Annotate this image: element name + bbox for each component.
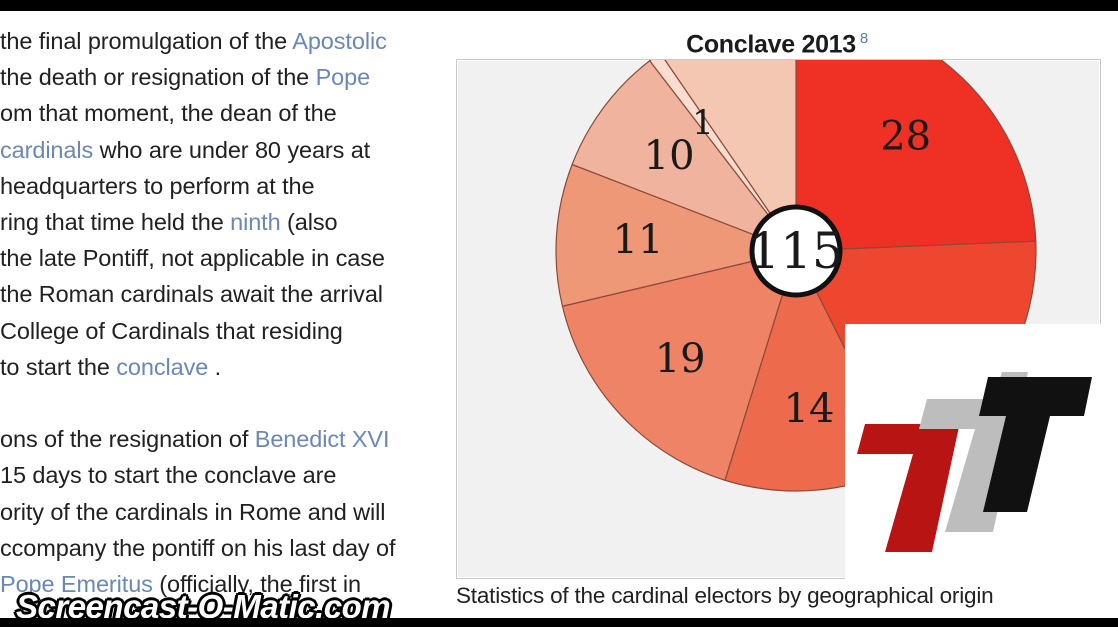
article-line: ring that time held the ninth (also (0, 204, 432, 240)
screen-capture: the final promulgation of the Apostolict… (0, 0, 1118, 627)
article-line: 15 days to start the conclave are (0, 457, 432, 493)
article-line: headquarters to perform at the (0, 168, 432, 204)
pie-slice-value-label: 1 (692, 103, 714, 143)
article-text: the death or resignation of the (0, 64, 316, 90)
article-link[interactable]: ninth (230, 209, 280, 235)
article-link[interactable]: Pope (316, 64, 370, 90)
article-line: the late Pontiff, not applicable in case (0, 240, 432, 276)
article-text: (also (281, 209, 338, 235)
article-line: ority of the cardinals in Rome and will (0, 494, 432, 530)
chart-title: Conclave 20138 (440, 19, 1118, 59)
chart-title-text: Conclave 2013 (686, 30, 856, 58)
article-line: ons of the resignation of Benedict XVI (0, 421, 432, 457)
pie-slice-value-label: 28 (880, 114, 931, 160)
article-text: ority of the cardinals in Rome and will (0, 499, 385, 525)
pie-slice-value-label: 11 (613, 217, 664, 263)
article-text: ring that time held the (0, 209, 230, 235)
article-line: ccompany the pontiff on his last day of (0, 530, 432, 566)
article-text: ons of the resignation of (0, 426, 255, 452)
ttt-logo-overlay (845, 324, 1118, 579)
pie-slice-value-label: 10 (644, 133, 695, 179)
article-text: the final promulgation of the (0, 28, 292, 54)
article-text: 15 days to start the conclave are (0, 462, 336, 488)
article-text: . (208, 354, 221, 380)
article-link[interactable]: Apostolic (292, 28, 386, 54)
chart-title-reference-link[interactable]: 8 (860, 30, 868, 47)
article-link[interactable]: Benedict XVI (255, 426, 390, 452)
page-content: the final promulgation of the Apostolict… (0, 11, 1118, 618)
article-line (0, 385, 432, 421)
pie-center-total-label: 115 (748, 222, 843, 280)
article-line: cardinals who are under 80 years at (0, 132, 432, 168)
article-line: the death or resignation of the Pope (0, 59, 432, 95)
article-text: om that moment, the dean of the (0, 100, 337, 126)
article-line: College of Cardinals that residing (0, 313, 432, 349)
article-text: to start the (0, 354, 116, 380)
article-text: ccompany the pontiff on his last day of (0, 535, 395, 561)
article-text: the Roman cardinals await the arrival (0, 281, 383, 307)
letterbox-bar-bottom (0, 618, 1118, 627)
letterbox-bar-top (0, 0, 1118, 11)
article-text: headquarters to perform at the (0, 173, 314, 199)
article-line: to start the conclave . (0, 349, 432, 385)
article-link[interactable]: conclave (116, 354, 208, 380)
article-link[interactable]: cardinals (0, 137, 93, 163)
article-line: the Roman cardinals await the arrival (0, 276, 432, 312)
article-text: who are under 80 years at (93, 137, 370, 163)
pie-slice-value-label: 19 (655, 336, 706, 382)
article-text-column: the final promulgation of the Apostolict… (0, 11, 440, 618)
ttt-logo-icon (845, 324, 1118, 579)
article-line: the final promulgation of the Apostolic (0, 23, 432, 59)
article-text: College of Cardinals that residing (0, 318, 343, 344)
chart-caption: Statistics of the cardinal electors by g… (456, 583, 1116, 609)
pie-slice-value-label: 14 (784, 386, 835, 432)
article-text: the late Pontiff, not applicable in case (0, 245, 385, 271)
article-line: om that moment, the dean of the (0, 95, 432, 131)
